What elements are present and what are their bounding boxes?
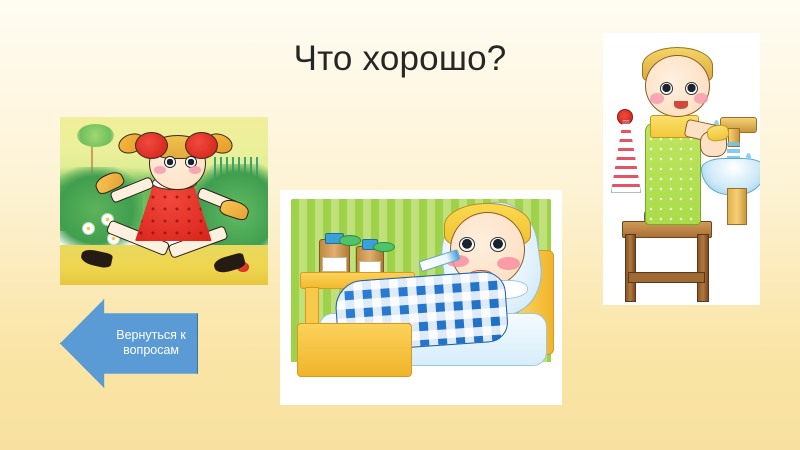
back-to-questions-button[interactable]: Вернуться к вопросам: [60, 299, 198, 388]
girl-running-scene: [60, 117, 268, 285]
boy-mouth: [674, 101, 688, 109]
stool-leg: [697, 234, 708, 301]
boy-eye: [459, 237, 475, 252]
sick-boy-scene: [280, 190, 562, 405]
boy-cheek: [650, 93, 664, 104]
nightstand-leg: [305, 287, 318, 328]
bottle-ribbon: [339, 235, 361, 246]
boy-cheek: [497, 257, 520, 270]
boy-eye: [660, 82, 673, 95]
bottle-ribbon: [373, 242, 395, 253]
stool-rail: [628, 272, 705, 282]
girl-eye: [164, 156, 176, 168]
bottle-label: [322, 257, 347, 272]
slide-canvas: Что хорошо?: [0, 0, 800, 450]
washing-hands-scene: [603, 33, 760, 305]
boy-cheek: [694, 93, 708, 104]
left-arrow-icon: [60, 299, 198, 388]
striped-towel: [611, 120, 641, 193]
boy-eye: [490, 237, 506, 252]
picture-sick-boy-in-bed: [280, 190, 562, 405]
picture-boy-washing-hands: [603, 33, 760, 305]
boy-eye: [685, 82, 698, 95]
bed-footboard: [297, 323, 412, 377]
daisy-flower: [83, 223, 94, 234]
girl-cheek: [154, 166, 166, 174]
picture-girl-running: [60, 117, 268, 285]
water-drop: [746, 153, 751, 160]
stool-leg: [625, 234, 636, 301]
sink-pedestal: [727, 188, 748, 225]
tree-crown: [77, 124, 114, 148]
